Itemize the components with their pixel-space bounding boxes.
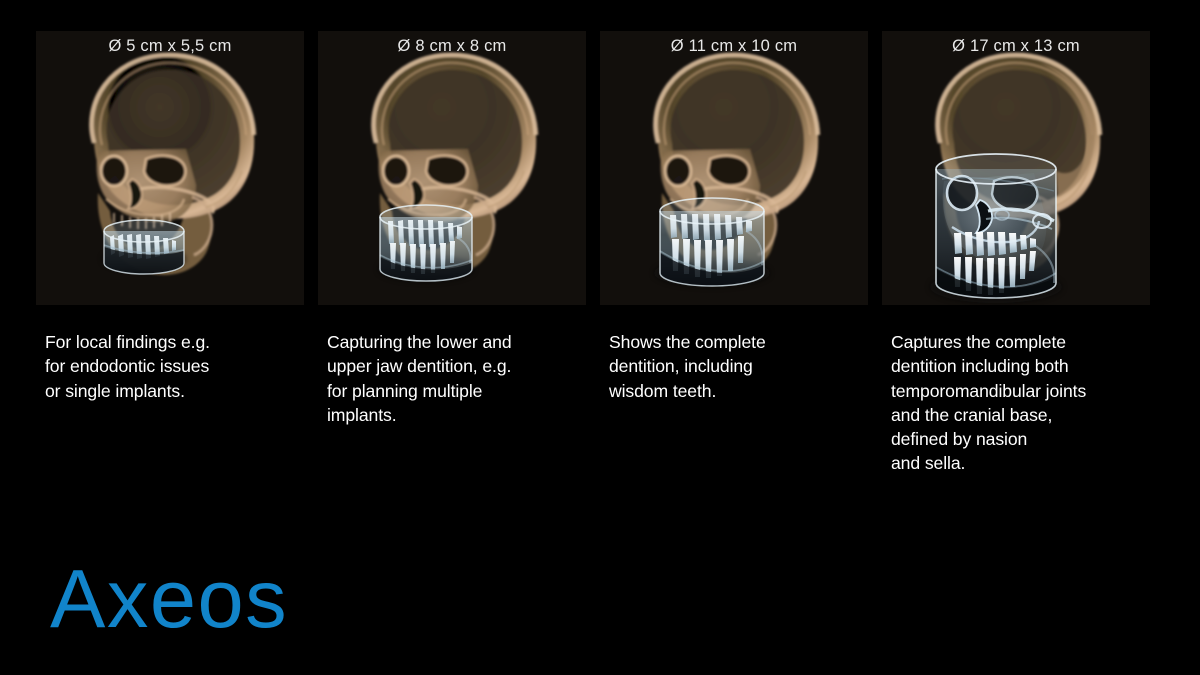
caption-2: Capturing the lower and upper jaw dentit… — [318, 330, 586, 476]
fov-panel-4[interactable]: Ø 17 cm x 13 cm — [882, 31, 1150, 305]
caption-4: Captures the complete dentition includin… — [882, 330, 1167, 476]
skull-xray-illustration-4 — [882, 31, 1150, 305]
panel-title-3: Ø 11 cm x 10 cm — [600, 37, 868, 56]
fov-panel-1[interactable]: Ø 5 cm x 5,5 cm — [36, 31, 304, 305]
skull-xray-illustration-1 — [36, 31, 304, 305]
caption-1: For local findings e.g. for endodontic i… — [36, 330, 304, 476]
panel-title-1: Ø 5 cm x 5,5 cm — [36, 37, 304, 56]
skull-xray-illustration-2 — [318, 31, 586, 305]
slide-canvas: Ø 5 cm x 5,5 cm — [0, 0, 1200, 675]
fov-panel-row: Ø 5 cm x 5,5 cm — [36, 31, 1164, 305]
caption-row: For local findings e.g. for endodontic i… — [36, 330, 1176, 476]
fov-panel-2[interactable]: Ø 8 cm x 8 cm — [318, 31, 586, 305]
brand-logo-axeos: Axeos — [50, 557, 288, 640]
fov-panel-3[interactable]: Ø 11 cm x 10 cm — [600, 31, 868, 305]
panel-title-4: Ø 17 cm x 13 cm — [882, 37, 1150, 56]
panel-title-2: Ø 8 cm x 8 cm — [318, 37, 586, 56]
caption-3: Shows the complete dentition, including … — [600, 330, 868, 476]
skull-xray-illustration-3 — [600, 31, 868, 305]
